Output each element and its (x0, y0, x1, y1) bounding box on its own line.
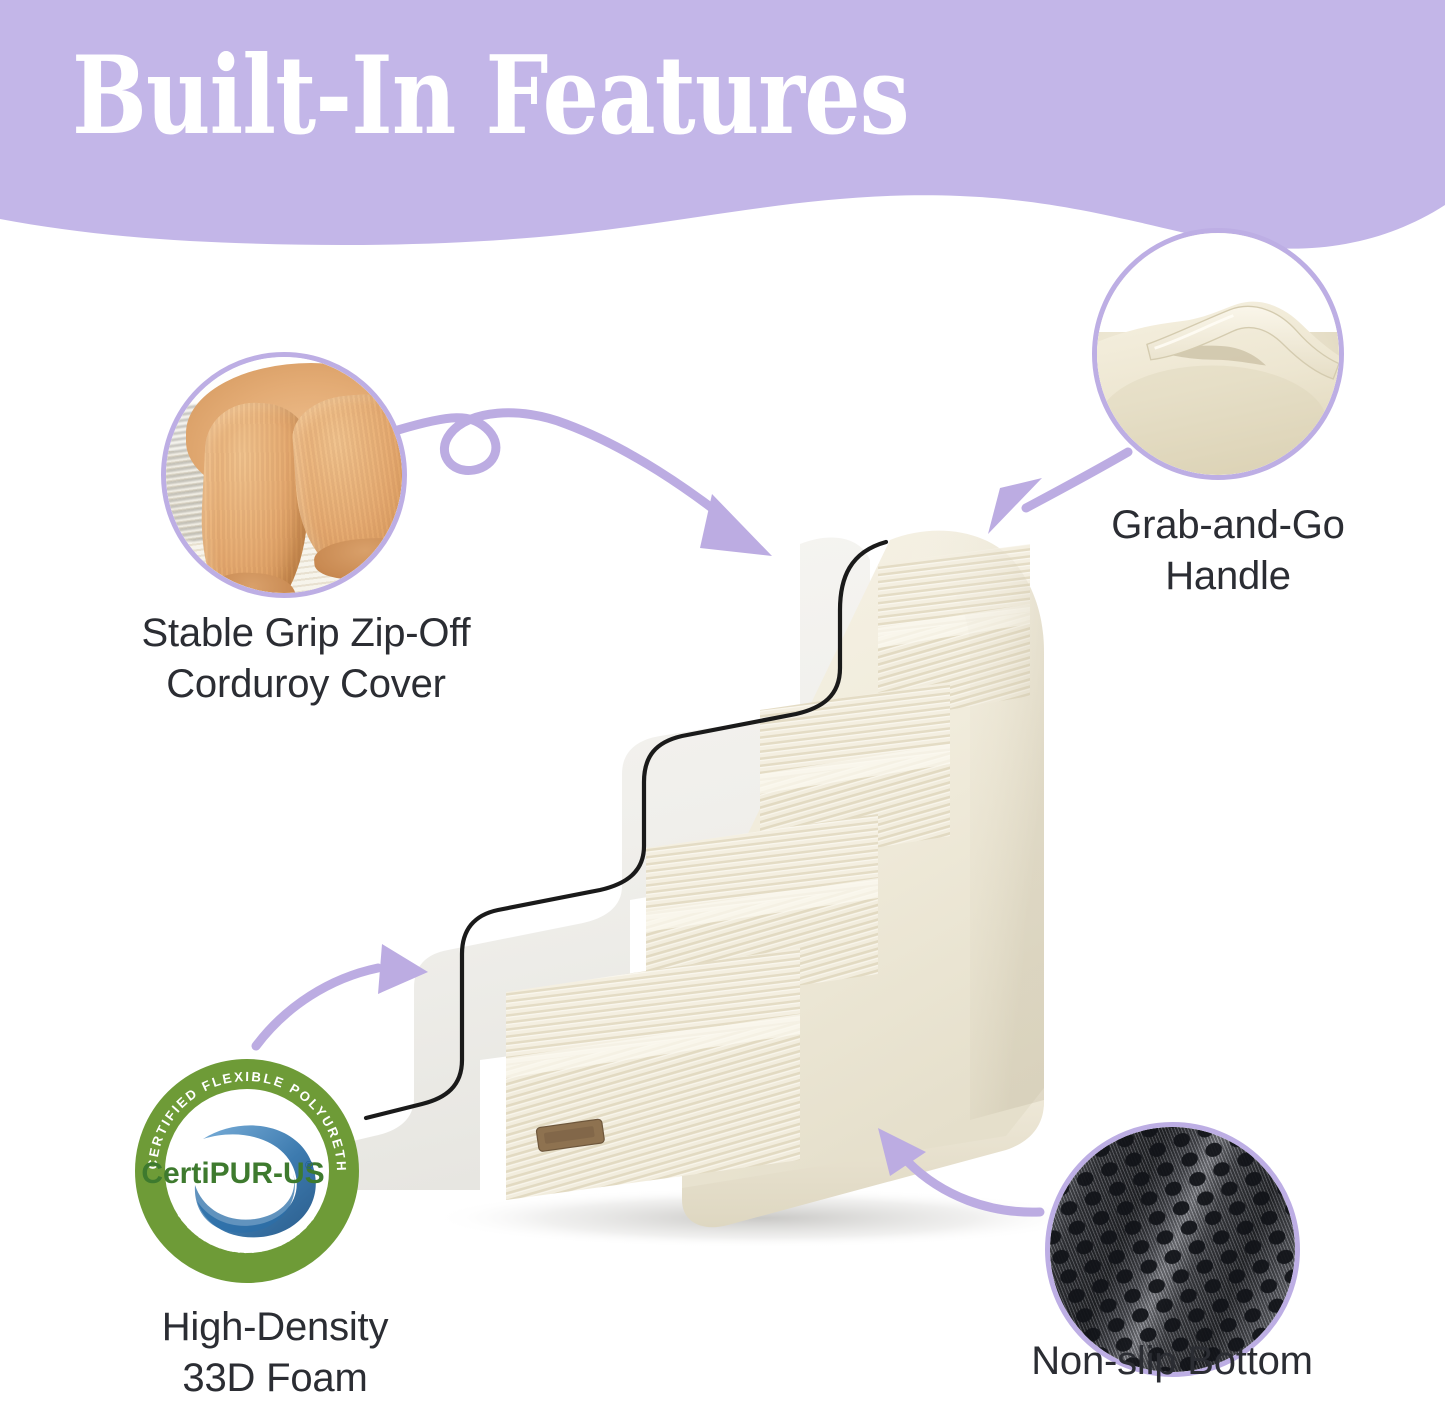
callout-line: Non-slip Bottom (962, 1336, 1382, 1387)
callout-line: 33D Foam (60, 1353, 490, 1404)
callout-label-high-density-foam: High-Density 33D Foam (60, 1302, 490, 1404)
page-title: Built-In Features (72, 42, 909, 150)
bubble-grab-handle-photo (1092, 228, 1344, 480)
certipur-us-badge: CONTAINS CERTIFIED FLEXIBLE POLYURETHANE… (133, 1057, 361, 1285)
callout-label-grab-and-go-handle: Grab-and-Go Handle (1058, 500, 1398, 602)
callout-label-corduroy-cover: Stable Grip Zip-Off Corduroy Cover (46, 608, 566, 710)
dog-claw (363, 559, 377, 571)
callout-line: Grab-and-Go (1058, 500, 1398, 551)
callout-line: Handle (1058, 551, 1398, 602)
badge-center-text: CertiPUR-US (141, 1157, 324, 1190)
bubble-corduroy-cover-photo (161, 352, 407, 598)
badge-registered-mark: ® (305, 1160, 313, 1172)
callout-label-non-slip-bottom: Non-slip Bottom (962, 1336, 1382, 1387)
callout-line: Stable Grip Zip-Off (46, 608, 566, 659)
fur-texture (290, 391, 402, 579)
callout-line: High-Density (60, 1302, 490, 1353)
dog-claw (336, 565, 350, 577)
callout-line: Corduroy Cover (46, 659, 566, 710)
dog-front-leg-right (290, 391, 402, 579)
